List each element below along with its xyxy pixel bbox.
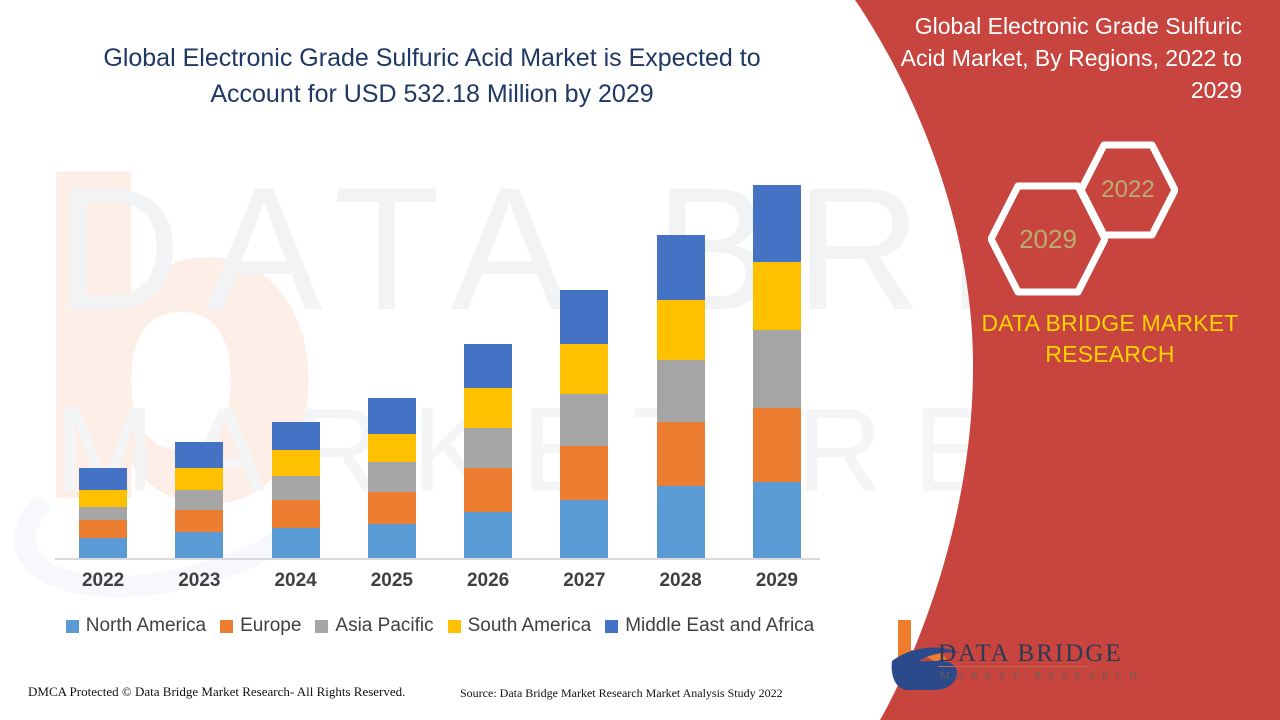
bar-segment (175, 532, 223, 558)
x-axis-label-2022: 2022 (79, 570, 127, 592)
bar-segment (175, 490, 223, 510)
chart-legend: North AmericaEuropeAsia PacificSouth Ame… (55, 615, 825, 637)
x-axis-label-2025: 2025 (368, 570, 416, 592)
bar-segment (464, 512, 512, 558)
x-axis-label-2028: 2028 (657, 570, 705, 592)
x-axis-label-2027: 2027 (560, 570, 608, 592)
stacked-bar-chart (55, 160, 825, 558)
legend-item: Asia Pacific (315, 615, 433, 637)
bar-segment (464, 468, 512, 512)
bar-segment (657, 235, 705, 300)
legend-swatch (448, 620, 461, 633)
x-axis-label-2026: 2026 (464, 570, 512, 592)
bar-segment (368, 462, 416, 492)
brand-name: DATA BRIDGE MARKET RESEARCH (960, 308, 1260, 370)
bar-segment (368, 524, 416, 558)
bar-segment (368, 492, 416, 524)
legend-item: Europe (220, 615, 301, 637)
bar-segment (464, 388, 512, 428)
x-axis-label-2024: 2024 (272, 570, 320, 592)
bar-2029 (753, 185, 801, 558)
bar-2023 (175, 442, 223, 558)
legend-swatch (220, 620, 233, 633)
bar-segment (464, 428, 512, 468)
hexagon-label-2022: 2022 (1101, 176, 1154, 204)
bar-segment (560, 344, 608, 394)
bar-segment (272, 500, 320, 528)
panel-title: Global Electronic Grade Sulfuric Acid Ma… (900, 10, 1260, 106)
hexagon-badge-2022: 2022 (1078, 140, 1178, 240)
bar-segment (368, 434, 416, 462)
legend-label: Europe (240, 615, 301, 637)
logo-tagline: MARKET RESEARCH (940, 670, 1144, 682)
legend-swatch (605, 620, 618, 633)
legend-item: South America (448, 615, 592, 637)
bar-segment (175, 510, 223, 532)
legend-label: South America (468, 615, 592, 637)
x-axis-labels: 20222023202420252026202720282029 (55, 570, 825, 592)
legend-item: North America (66, 615, 206, 637)
bar-segment (560, 394, 608, 446)
bar-segment (753, 262, 801, 330)
bar-segment (368, 398, 416, 434)
bar-2024 (272, 422, 320, 558)
logo-divider (938, 666, 1090, 667)
legend-swatch (315, 620, 328, 633)
bar-segment (753, 185, 801, 262)
legend-item: Middle East and Africa (605, 615, 814, 637)
bar-segment (175, 468, 223, 490)
x-axis-line (55, 558, 820, 560)
bar-segment (272, 528, 320, 558)
infographic-canvas: b DATA BRIDGE MARKET RESEARCH Global Ele… (0, 0, 1280, 720)
bar-2026 (464, 344, 512, 558)
footer-copyright: DMCA Protected © Data Bridge Market Rese… (28, 684, 405, 700)
legend-label: North America (86, 615, 206, 637)
bar-segment (560, 446, 608, 500)
chart-title: Global Electronic Grade Sulfuric Acid Ma… (62, 40, 802, 112)
legend-swatch (66, 620, 79, 633)
bar-segment (657, 300, 705, 360)
bar-segment (753, 482, 801, 558)
bar-segment (79, 538, 127, 558)
hexagon-label-2029: 2029 (1019, 224, 1077, 255)
bar-2028 (657, 235, 705, 558)
legend-label: Middle East and Africa (625, 615, 814, 637)
footer-source: Source: Data Bridge Market Research Mark… (460, 686, 783, 701)
bar-segment (272, 476, 320, 500)
logo-wordmark: DATA BRIDGE (938, 640, 1123, 668)
bar-segment (657, 486, 705, 558)
x-axis-label-2029: 2029 (753, 570, 801, 592)
bar-segment (753, 408, 801, 482)
bar-2027 (560, 290, 608, 558)
x-axis-label-2023: 2023 (175, 570, 223, 592)
bar-segment (560, 500, 608, 558)
bar-segment (79, 507, 127, 520)
bar-segment (79, 468, 127, 490)
bar-2025 (368, 398, 416, 558)
bar-segment (79, 490, 127, 507)
bar-2022 (79, 468, 127, 558)
bar-segment (272, 450, 320, 476)
bar-segment (175, 442, 223, 468)
bar-segment (753, 330, 801, 408)
bar-segment (79, 520, 127, 538)
bar-segment (560, 290, 608, 344)
bar-segment (464, 344, 512, 388)
bar-segment (657, 360, 705, 422)
bar-segment (272, 422, 320, 450)
legend-label: Asia Pacific (335, 615, 433, 637)
bar-segment (657, 422, 705, 486)
